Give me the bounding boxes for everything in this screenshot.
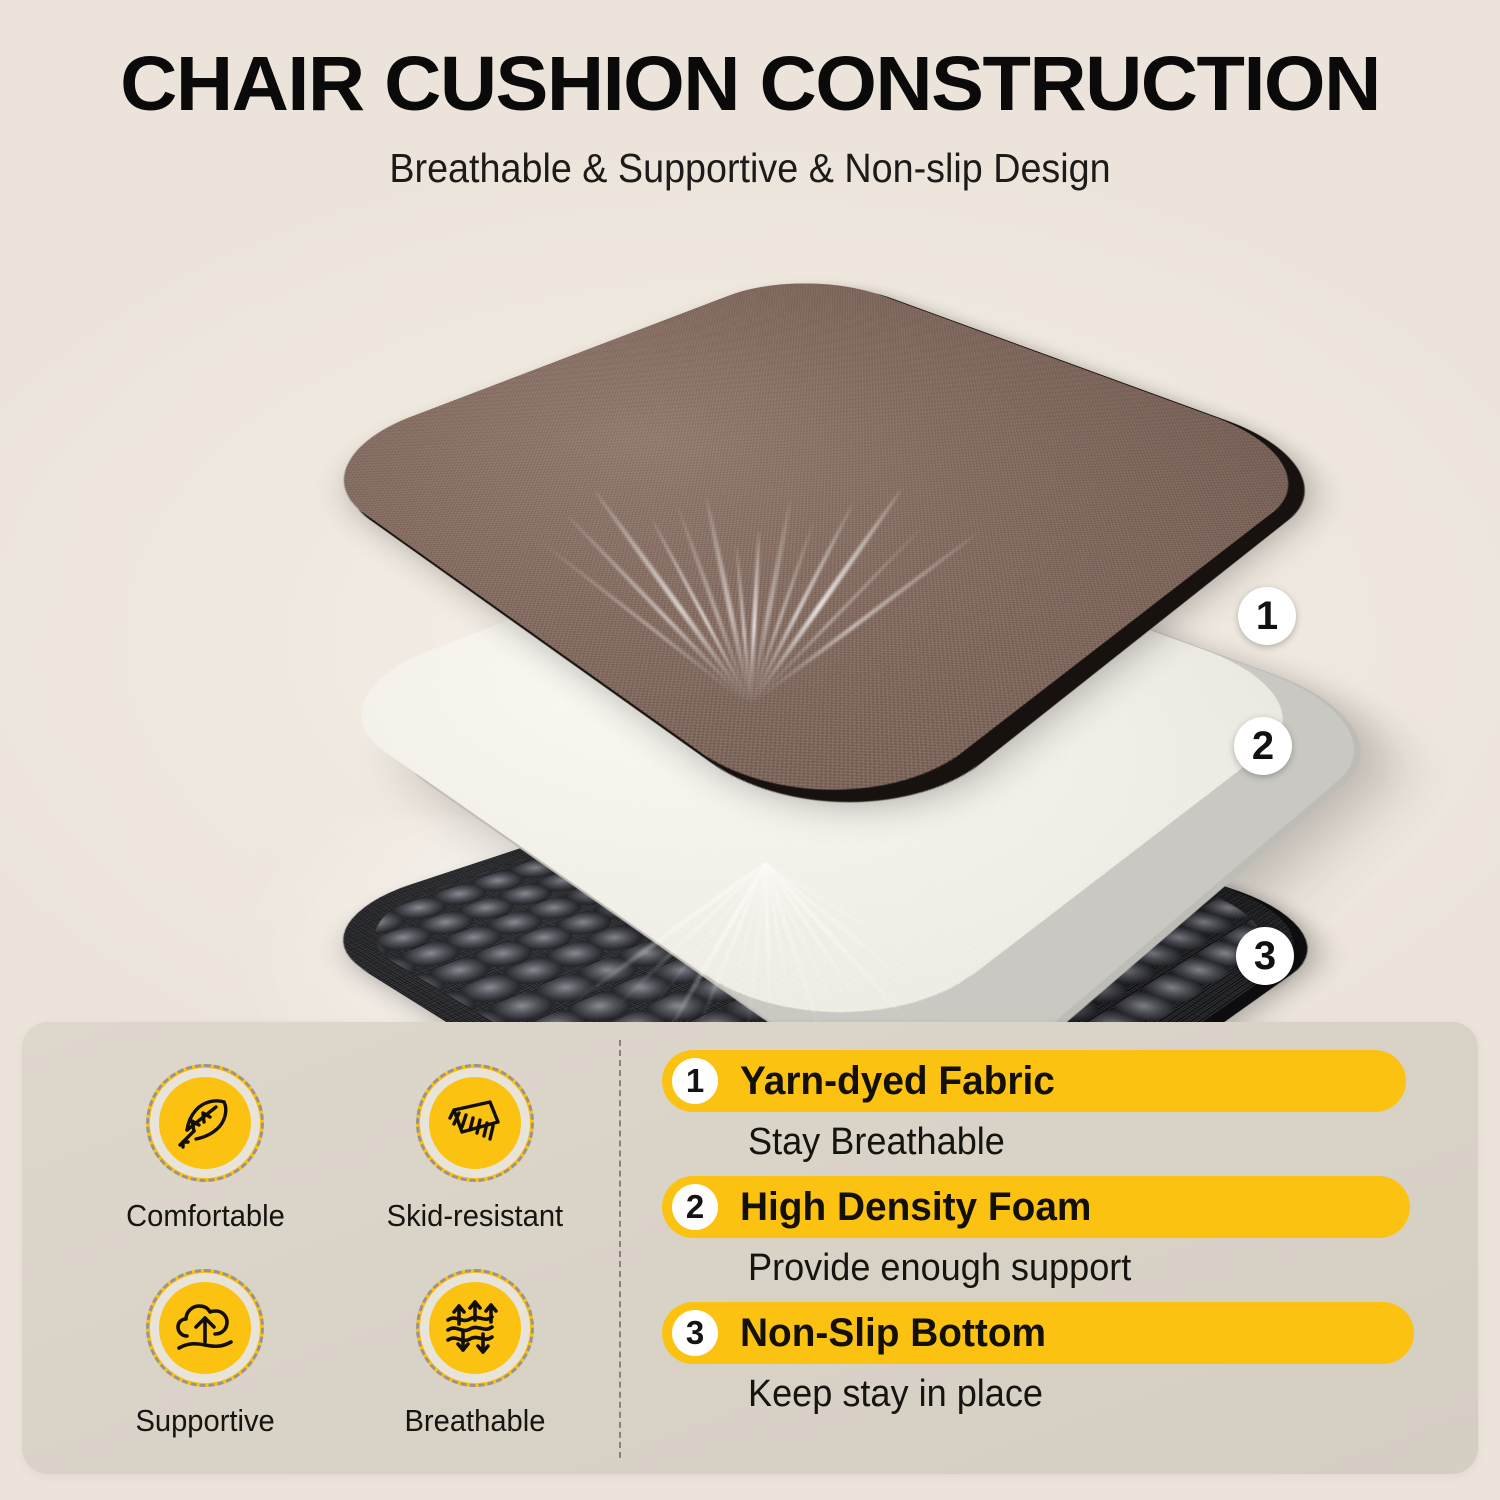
benefit-label: Comfortable: [126, 1198, 285, 1234]
feature-title-2: High Density Foam: [740, 1185, 1091, 1230]
feature-title-3: Non-Slip Bottom: [740, 1311, 1046, 1356]
cushion-up-arrow-icon-badge: [146, 1269, 264, 1387]
feature-list: 1 Yarn-dyed Fabric Stay Breathable 2 Hig…: [662, 1050, 1452, 1428]
benefit-label: Breathable: [405, 1403, 546, 1439]
airflow-arrows-icon-badge: [416, 1269, 534, 1387]
feature-badge-3: 3: [672, 1310, 718, 1356]
feature-title-1: Yarn-dyed Fabric: [740, 1059, 1055, 1104]
airflow-arrows-icon: [425, 1278, 525, 1378]
feature-badge-1: 1: [672, 1058, 718, 1104]
benefit-icon-grid: Comfortable: [70, 1046, 610, 1456]
layer-badge-1: 1: [1238, 587, 1296, 645]
header: CHAIR CUSHION CONSTRUCTION Breathable & …: [0, 46, 1500, 192]
infographic-page: CHAIR CUSHION CONSTRUCTION Breathable & …: [0, 0, 1500, 1500]
benefit-item-supportive: Supportive: [70, 1251, 340, 1456]
feature-pill-3: 3 Non-Slip Bottom: [662, 1302, 1414, 1364]
feature-pill-1: 1 Yarn-dyed Fabric: [662, 1050, 1406, 1112]
info-card: Comfortable: [22, 1022, 1478, 1474]
benefit-item-skid-resistant: Skid-resistant: [340, 1046, 610, 1251]
feature-item-2: 2 High Density Foam Provide enough suppo…: [662, 1176, 1452, 1290]
page-subtitle: Breathable & Supportive & Non-slip Desig…: [60, 145, 1440, 192]
feature-desc-3: Keep stay in place: [748, 1373, 1417, 1416]
feature-pill-2: 2 High Density Foam: [662, 1176, 1410, 1238]
feature-desc-2: Provide enough support: [748, 1247, 1417, 1290]
layer-badge-2: 2: [1234, 717, 1292, 775]
benefit-label: Supportive: [135, 1403, 274, 1439]
bristle-brush-icon-badge: [416, 1064, 534, 1182]
vertical-dashed-divider: [619, 1040, 621, 1458]
benefit-label: Skid-resistant: [387, 1198, 564, 1234]
cushion-up-arrow-icon: [155, 1278, 255, 1378]
feather-icon: [155, 1073, 255, 1173]
product-layer-stack: 1 2 3: [0, 215, 1500, 1005]
page-title: CHAIR CUSHION CONSTRUCTION: [0, 46, 1500, 123]
feature-item-3: 3 Non-Slip Bottom Keep stay in place: [662, 1302, 1452, 1416]
feature-item-1: 1 Yarn-dyed Fabric Stay Breathable: [662, 1050, 1452, 1164]
benefit-item-comfortable: Comfortable: [70, 1046, 340, 1251]
feature-desc-1: Stay Breathable: [748, 1121, 1417, 1164]
layer-badge-3: 3: [1236, 927, 1294, 985]
feature-badge-2: 2: [672, 1184, 718, 1230]
bristle-brush-icon: [425, 1073, 525, 1173]
benefit-item-breathable: Breathable: [340, 1251, 610, 1456]
feather-icon-badge: [146, 1064, 264, 1182]
